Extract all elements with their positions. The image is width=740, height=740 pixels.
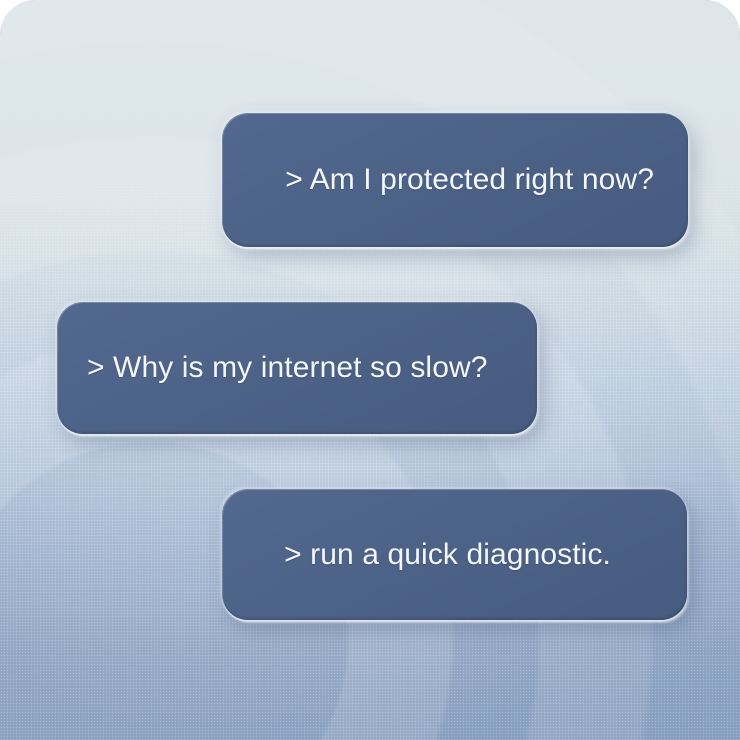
- message-bubble-3[interactable]: > run a quick diagnostic.: [222, 489, 687, 620]
- message-bubble-2-text: > Why is my internet so slow?: [87, 350, 488, 386]
- message-bubble-3-text: > run a quick diagnostic.: [284, 537, 611, 573]
- chat-prompt-card: > Am I protected right now? > Why is my …: [0, 0, 740, 740]
- message-bubble-1[interactable]: > Am I protected right now?: [222, 113, 688, 247]
- message-bubble-2[interactable]: > Why is my internet so slow?: [57, 302, 537, 434]
- message-bubble-1-text: > Am I protected right now?: [285, 162, 654, 198]
- message-stack: > Am I protected right now? > Why is my …: [0, 0, 740, 740]
